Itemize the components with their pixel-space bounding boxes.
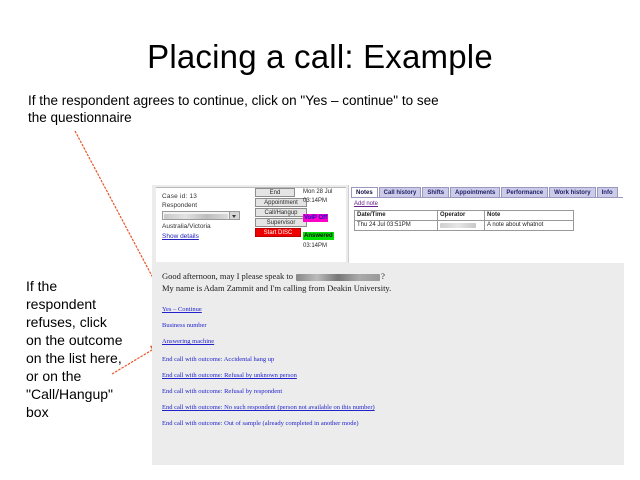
notes-table: Date/Time Operator Note Thu 24 Jul 03:51… [354,210,574,231]
cell-datetime: Thu 24 Jul 03:51PM [355,221,438,231]
column-header-operator: Operator [438,211,485,221]
respondent-select[interactable] [162,211,240,220]
arrow-line-top [75,131,161,293]
outcome-link-out-of-sample[interactable]: End call with outcome: Out of sample (al… [162,419,359,428]
outcome-link-yes-continue[interactable]: Yes – Continue [162,305,202,314]
table-header-row: Date/Time Operator Note [355,211,574,221]
redaction-bar [296,274,380,281]
respondent-label: Respondent [162,202,197,209]
start-disc-button[interactable]: Start DISC [255,228,301,237]
add-note-link[interactable]: Add note [354,201,378,207]
supervisor-button[interactable]: Supervisor [255,218,307,227]
column-header-datetime: Date/Time [355,211,438,221]
tabbed-panel: Notes Call history Shifts Appointments P… [348,185,625,263]
call-status-column: Mon 28 Jul 03:14PM VoIP Off Answered 03:… [303,188,341,251]
script-greeting-line: Good afternoon, may I please speak to ? [162,271,385,282]
status-date: Mon 28 Jul [303,188,341,197]
outcome-link-refusal-by-respondent[interactable]: End call with outcome: Refusal by respon… [162,387,282,396]
script-greeting-prefix: Good afternoon, may I please speak to [162,271,295,281]
action-button-group: End Appointment Call/Hangup Supervisor S… [255,188,307,238]
page-title: Placing a call: Example [0,38,640,76]
redaction-bar [164,214,228,219]
outcome-link-no-such-respondent[interactable]: End call with outcome: No such responden… [162,403,375,412]
status-time-bottom: 03:14PM [303,242,341,251]
outcome-link-answering-machine[interactable]: Answering machine [162,337,214,346]
timezone-label: Australia/Victoria [162,223,211,230]
column-header-note: Note [485,211,574,221]
voip-status-badge: VoIP Off [303,214,328,222]
outcome-link-business-number[interactable]: Business number [162,321,207,330]
callout-text-top: If the respondent agrees to continue, cl… [28,92,458,126]
application-screenshot: Case id: 13 Respondent Australia/Victori… [152,185,624,465]
callout-text-left: If the respondent refuses, click on the … [26,277,124,421]
redaction-bar [440,223,476,228]
call-hangup-button[interactable]: Call/Hangup [255,208,307,217]
tab-underline [351,197,623,198]
app-top-row: Case id: 13 Respondent Australia/Victori… [152,185,624,263]
answered-status-badge: Answered [303,232,334,240]
script-and-outcomes: Good afternoon, may I please speak to ? … [152,271,624,465]
chevron-down-icon[interactable] [229,212,239,219]
script-greeting-suffix: ? [381,271,385,281]
script-introduction-line: My name is Adam Zammit and I'm calling f… [162,283,391,294]
cell-note: A note about whatnot [485,221,574,231]
status-time-top: 03:14PM [303,197,341,206]
appointment-button[interactable]: Appointment [255,198,307,207]
show-details-link[interactable]: Show details [162,233,199,240]
end-button[interactable]: End [255,188,295,197]
cell-operator [438,221,485,231]
case-id-label: Case id: 13 [162,193,197,200]
outcome-link-refusal-unknown-person[interactable]: End call with outcome: Refusal by unknow… [162,371,297,380]
outcome-link-accidental-hang-up[interactable]: End call with outcome: Accidental hang u… [162,355,274,364]
table-row[interactable]: Thu 24 Jul 03:51PM A note about whatnot [355,221,574,231]
